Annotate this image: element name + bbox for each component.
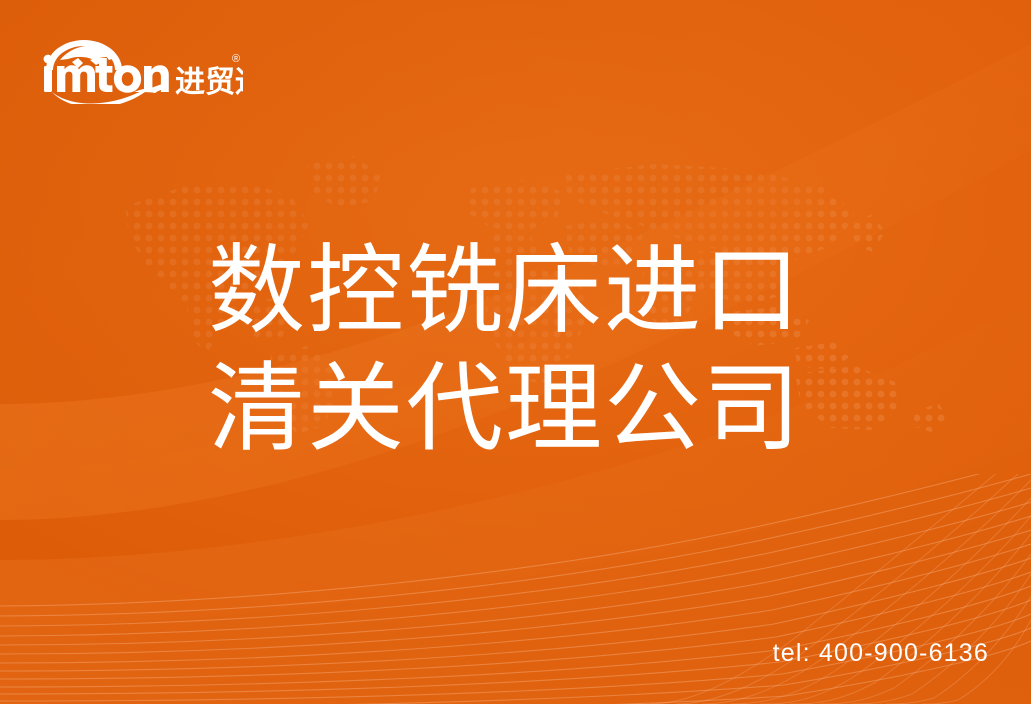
page-title: 数控铣床进口 清关代理公司 <box>208 232 868 468</box>
page-title-line-1: 数控铣床进口 <box>208 232 868 350</box>
company-logo[interactable]: 进贸通 ® <box>38 26 243 104</box>
logo-wordmark <box>44 55 169 93</box>
globe-arc-icon <box>46 40 122 70</box>
promotional-banner: 进贸通 ® 数控铣床进口 清关代理公司 tel: 400-900-6136 <box>0 0 1031 704</box>
page-title-line-2: 清关代理公司 <box>208 350 868 468</box>
contact-phone[interactable]: tel: 400-900-6136 <box>773 641 989 666</box>
logo-chinese-name: 进贸通 <box>175 65 243 100</box>
stripe-decoration <box>0 474 1031 704</box>
logo-trademark-symbol: ® <box>232 53 240 65</box>
